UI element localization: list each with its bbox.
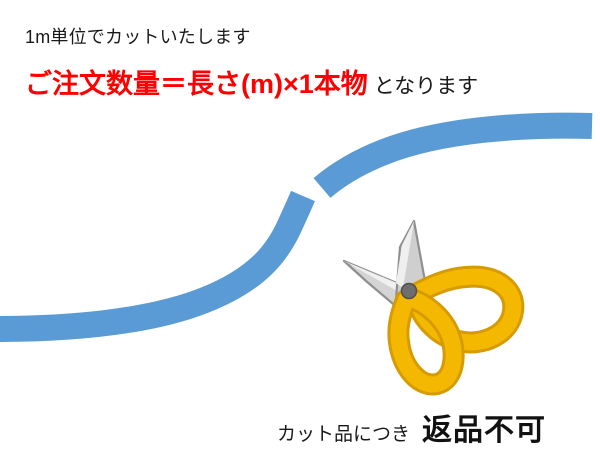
no-return-notice: カット品につき返品不可 — [277, 413, 546, 449]
cut-unit-note: 1m単位でカットいたします — [25, 27, 251, 49]
scissors-handle-lower — [398, 299, 453, 385]
no-return-emphasis: 返品不可 — [410, 414, 546, 447]
blue-cable-left-segment — [0, 196, 303, 329]
order-formula-line: ご注文数量＝長さ(m)×1本物となります — [25, 68, 478, 100]
scissors — [344, 221, 513, 385]
scissors-pivot-screw — [402, 284, 417, 299]
poster-canvas: 1m単位でカットいたします ご注文数量＝長さ(m)×1本物となります カット品に… — [0, 0, 600, 466]
no-return-prefix: カット品につき — [277, 424, 410, 445]
blue-cable-right-segment — [322, 126, 592, 188]
order-formula-red: ご注文数量＝長さ(m)×1本物 — [25, 69, 368, 99]
order-formula-suffix: となります — [368, 75, 478, 98]
